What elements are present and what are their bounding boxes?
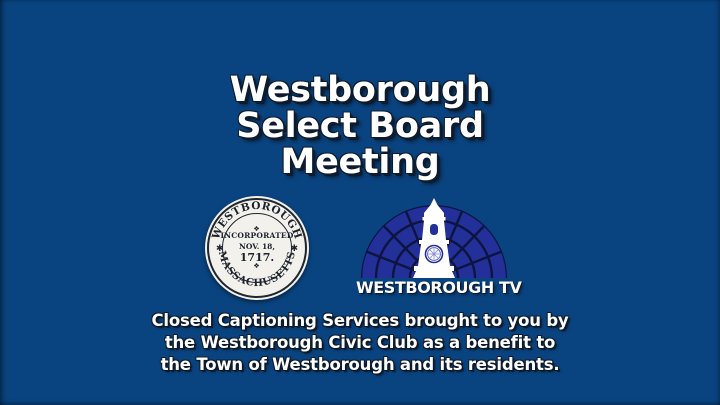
title-line-3: Meeting [0,144,720,180]
broadcast-title-slide: Westborough Select Board Meeting WESTBOR… [0,0,720,405]
seal-date-label: NOV. 18, [205,243,309,251]
tv-globe-graphic [353,196,515,278]
caption-line-1: Closed Captioning Services brought to yo… [0,310,720,332]
westborough-tv-icon: WESTBOROUGH TV [353,196,515,300]
town-seal-icon: WESTBOROUGH MASSACHUSETTS ✱ ✱ ❖ INCORPOR… [205,196,309,300]
logo-row: WESTBOROUGH MASSACHUSETTS ✱ ✱ ❖ INCORPOR… [0,196,720,304]
tv-logo-label: WESTBOROUGH TV [356,278,512,297]
caption-line-3: the Town of Westborough and its resident… [0,354,720,376]
title-line-2: Select Board [0,108,720,144]
caption-line-2: the Westborough Civic Club as a benefit … [0,332,720,354]
closed-captioning-credit: Closed Captioning Services brought to yo… [0,310,720,376]
seal-ornament-bottom-icon: ❖ [205,263,309,269]
seal-center-text: ❖ INCORPORATED NOV. 18, 1717. ❖ [205,226,309,269]
title-line-1: Westborough [0,72,720,108]
meeting-title: Westborough Select Board Meeting [0,72,720,180]
seal-incorporated-label: INCORPORATED [205,232,309,240]
